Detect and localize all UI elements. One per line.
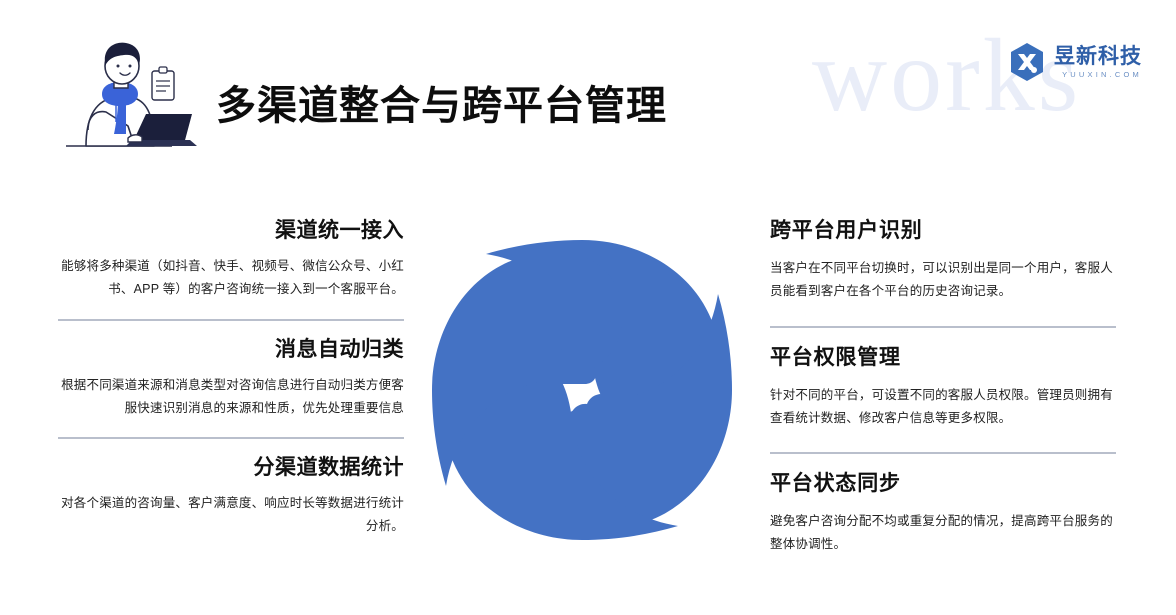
feature-divider (58, 437, 404, 439)
brand-logo: 昱新科技 YUUXIN.COM (1008, 42, 1142, 82)
feature-title: 平台权限管理 (770, 345, 1116, 371)
feature-description: 针对不同的平台，可设置不同的客服人员权限。管理员则拥有查看统计数据、修改客户信息… (770, 384, 1116, 430)
left-feature-column: 渠道统一接入 能够将多种渠道（如抖音、快手、视频号、微信公众号、小红书、APP … (58, 218, 404, 539)
feature-description: 能够将多种渠道（如抖音、快手、视频号、微信公众号、小红书、APP 等）的客户咨询… (58, 255, 404, 301)
hexagon-x-logo-icon (1008, 42, 1046, 82)
page-header: 多渠道整合与跨平台管理 works 昱新科技 YUUXIN.COM (0, 0, 1176, 185)
feature-item: 平台状态同步 避免客户咨询分配不均或重复分配的情况，提高跨平台服务的整体协调性。 (770, 471, 1116, 557)
feature-description: 当客户在不同平台切换时，可以识别出是同一个用户，客服人员能看到客户在各个平台的历… (770, 257, 1116, 303)
page-title: 多渠道整合与跨平台管理 (216, 82, 667, 130)
feature-item: 跨平台用户识别 当客户在不同平台切换时，可以识别出是同一个用户，客服人员能看到客… (770, 218, 1116, 304)
feature-item: 分渠道数据统计 对各个渠道的咨询量、客户满意度、响应时长等数据进行统计分析。 (58, 455, 404, 539)
feature-description: 根据不同渠道来源和消息类型对咨询信息进行自动归类方便客服快速识别消息的来源和性质… (58, 374, 404, 420)
feature-item: 平台权限管理 针对不同的平台，可设置不同的客服人员权限。管理员则拥有查看统计数据… (770, 345, 1116, 431)
feature-title: 分渠道数据统计 (58, 455, 404, 481)
brand-text-block: 昱新科技 YUUXIN.COM (1054, 46, 1142, 79)
brand-name: 昱新科技 (1054, 46, 1142, 67)
feature-description: 避免客户咨询分配不均或重复分配的情况，提高跨平台服务的整体协调性。 (770, 510, 1116, 556)
brand-domain: YUUXIN.COM (1054, 71, 1142, 79)
person-working-on-laptop-illustration (66, 38, 198, 160)
feature-title: 消息自动归类 (58, 337, 404, 363)
feature-title: 渠道统一接入 (58, 218, 404, 244)
right-feature-column: 跨平台用户识别 当客户在不同平台切换时，可以识别出是同一个用户，客服人员能看到客… (770, 218, 1116, 557)
feature-divider (58, 319, 404, 321)
feature-title: 跨平台用户识别 (770, 218, 1116, 244)
feature-item: 渠道统一接入 能够将多种渠道（如抖音、快手、视频号、微信公众号、小红书、APP … (58, 218, 404, 302)
feature-divider (770, 452, 1116, 454)
feature-divider (770, 326, 1116, 328)
pinwheel-swirl-graphic (432, 218, 732, 563)
feature-description: 对各个渠道的咨询量、客户满意度、响应时长等数据进行统计分析。 (58, 492, 404, 538)
feature-title: 平台状态同步 (770, 471, 1116, 497)
feature-item: 消息自动归类 根据不同渠道来源和消息类型对咨询信息进行自动归类方便客服快速识别消… (58, 337, 404, 421)
